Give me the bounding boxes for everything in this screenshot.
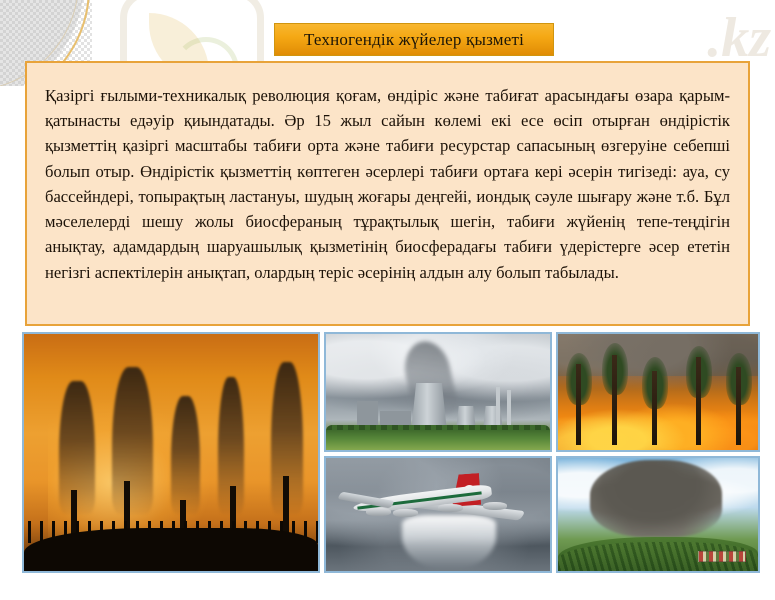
body-paragraph: Қазіргі ғылыми-техникалық революция қоға… [45, 83, 730, 285]
photo-firefighting-airplane [324, 456, 552, 573]
photo-forest-fire [556, 332, 760, 452]
photo-volcanic-eruption [556, 456, 760, 573]
slide-title: Техногендік жүйелер қызметі [304, 30, 524, 50]
body-text-panel: Қазіргі ғылыми-техникалық революция қоға… [25, 61, 750, 326]
slide-title-bar: Техногендік жүйелер қызметі [274, 23, 554, 56]
photo-grid [22, 332, 760, 577]
photo-power-plant-cooling-towers [324, 332, 552, 452]
photo-industrial-smokestacks [22, 332, 320, 573]
